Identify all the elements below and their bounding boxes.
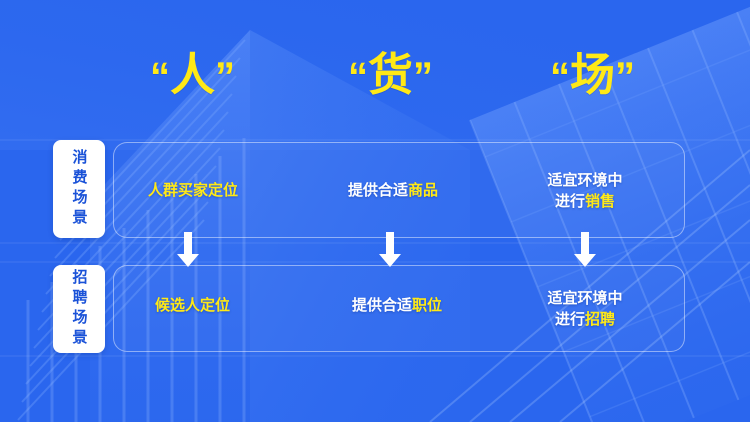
cell-recruiting-people: 候选人定位 <box>155 295 230 316</box>
cell-consumption-place-line2: 进行销售 <box>530 191 640 212</box>
header-ren: “人” <box>150 46 235 106</box>
header-huo: “货” <box>348 46 433 106</box>
arrow-goods-icon <box>378 232 402 268</box>
cell-recruiting-people-label: 候选人定位 <box>155 297 230 314</box>
cell-recruiting-goods: 提供合适职位 <box>352 295 442 316</box>
cell-consumption-goods-highlight: 商品 <box>408 182 438 199</box>
cell-recruiting-goods-highlight: 职位 <box>412 297 442 314</box>
cell-consumption-place: 适宜环境中 进行销售 <box>530 170 640 212</box>
chip-recruiting-label: 招聘场景 <box>72 269 87 349</box>
header-chang: “场” <box>550 46 635 106</box>
cell-consumption-goods-plain: 提供合适 <box>348 182 408 199</box>
chip-consumption-scenario: 消费场景 <box>53 140 105 238</box>
quote-close-icon: ” <box>215 55 235 99</box>
cell-recruiting-place-line2-plain: 进行 <box>555 311 585 328</box>
cell-consumption-place-line2-plain: 进行 <box>555 193 585 210</box>
cell-consumption-place-line2-highlight: 销售 <box>585 193 615 210</box>
chip-recruiting-scenario: 招聘场景 <box>53 265 105 353</box>
cell-consumption-goods: 提供合适商品 <box>348 180 438 201</box>
arrow-place-icon <box>573 232 597 268</box>
header-chang-label: 场 <box>570 49 615 100</box>
chip-consumption-label: 消费场景 <box>72 149 87 229</box>
quote-close-icon: ” <box>413 55 433 99</box>
cell-recruiting-goods-plain: 提供合适 <box>352 297 412 314</box>
cell-recruiting-place-line2: 进行招聘 <box>530 309 640 330</box>
header-ren-label: 人 <box>170 49 215 100</box>
cell-recruiting-place-line1: 适宜环境中 <box>530 288 640 309</box>
cell-consumption-people-label: 人群买家定位 <box>148 182 238 199</box>
cell-consumption-people: 人群买家定位 <box>148 180 238 201</box>
header-huo-label: 货 <box>368 49 413 100</box>
cell-recruiting-place-line2-highlight: 招聘 <box>585 311 615 328</box>
arrow-people-icon <box>176 232 200 268</box>
slide-canvas: “人” “货” “场” 消费场景 人群买家定位 提供合适商品 适宜环境中 进行销… <box>0 0 750 422</box>
quote-open-icon: “ <box>348 55 368 99</box>
cell-consumption-place-line1: 适宜环境中 <box>530 170 640 191</box>
cell-recruiting-place: 适宜环境中 进行招聘 <box>530 288 640 330</box>
column-headers: “人” “货” “场” <box>0 46 750 108</box>
quote-close-icon: ” <box>615 55 635 99</box>
quote-open-icon: “ <box>550 55 570 99</box>
quote-open-icon: “ <box>150 55 170 99</box>
